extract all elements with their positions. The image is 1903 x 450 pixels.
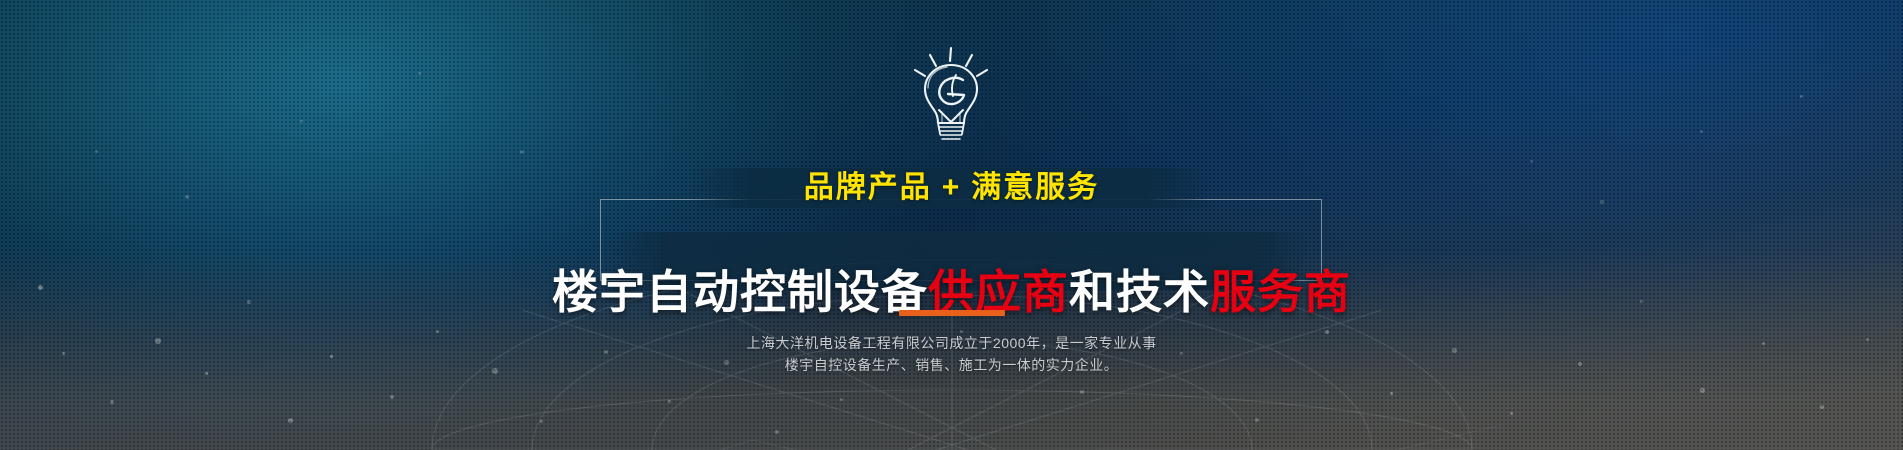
headline-part-4: 服务商 (1210, 266, 1351, 318)
tagline-right: 满意服务 (971, 171, 1099, 204)
banner-tagline: 品牌产品+满意服务 (0, 170, 1903, 206)
headline-part-3: 和技术 (1069, 266, 1210, 318)
headline-part-1: 楼宇自动控制设备 (552, 266, 928, 318)
banner-content: 品牌产品+满意服务 楼宇自动控制设备供应商和技术服务商 上海大洋机电设备工程有限… (0, 0, 1903, 450)
description-line-1: 上海大洋机电设备工程有限公司成立于2000年，是一家专业从事 (0, 332, 1903, 354)
banner-description: 上海大洋机电设备工程有限公司成立于2000年，是一家专业从事 楼宇自控设备生产、… (0, 332, 1903, 376)
description-line-2: 楼宇自控设备生产、销售、施工为一体的实力企业。 (0, 354, 1903, 376)
tagline-left: 品牌产品 (804, 171, 932, 204)
tagline-plus: + (932, 171, 972, 204)
hero-banner: 品牌产品+满意服务 楼宇自动控制设备供应商和技术服务商 上海大洋机电设备工程有限… (0, 0, 1903, 450)
lightbulb-e-icon (897, 44, 1005, 142)
orange-divider (899, 310, 1005, 316)
